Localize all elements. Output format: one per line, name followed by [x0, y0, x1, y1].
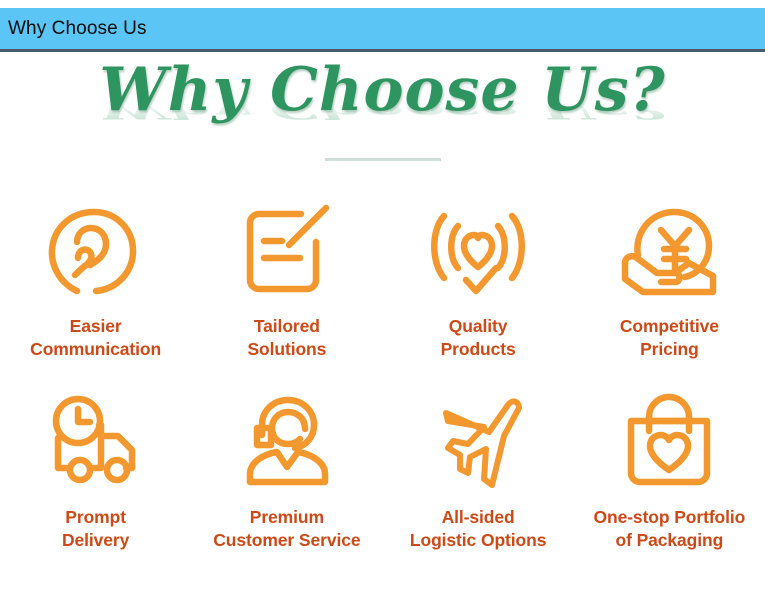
- feature-item-one-stop-portfolio-packaging[interactable]: One-stop Portfolio of Packaging: [574, 387, 765, 578]
- feature-label: Tailored Solutions: [247, 315, 326, 361]
- feature-label-line2: Pricing: [640, 339, 699, 359]
- feature-label-line1: Quality: [449, 316, 508, 336]
- headset-agent-icon: [235, 387, 339, 499]
- page-title: Why Choose Us?: [99, 60, 665, 120]
- feature-label: One-stop Portfolio of Packaging: [593, 506, 745, 552]
- feature-label-line2: Delivery: [62, 530, 129, 550]
- feature-item-competitive-pricing[interactable]: Competitive Pricing: [574, 196, 765, 387]
- feature-label: All-sided Logistic Options: [410, 506, 546, 552]
- feature-label: Premium Customer Service: [213, 506, 360, 552]
- hero-divider: [325, 158, 441, 161]
- feature-item-premium-customer-service[interactable]: Premium Customer Service: [191, 387, 382, 578]
- feature-label-line1: One-stop Portfolio: [593, 507, 745, 527]
- feature-label: Competitive Pricing: [620, 315, 719, 361]
- feature-item-prompt-delivery[interactable]: Prompt Delivery: [0, 387, 191, 578]
- ear-listening-icon: [44, 196, 148, 308]
- feature-label-line1: Prompt: [65, 507, 126, 527]
- feature-label-line1: Tailored: [254, 316, 320, 336]
- window-header-bar: Why Choose Us: [0, 8, 765, 52]
- feature-label-line1: Premium: [250, 507, 324, 527]
- hero-title-wrapper: Why Choose Us? Why Choose Us?: [83, 60, 683, 152]
- feature-item-all-sided-logistic-options[interactable]: All-sided Logistic Options: [383, 387, 574, 578]
- feature-row: Prompt Delivery Premium Customer Service: [0, 387, 765, 578]
- delivery-truck-clock-icon: [44, 387, 148, 499]
- feature-item-easier-communication[interactable]: Easier Communication: [0, 196, 191, 387]
- feature-label: Easier Communication: [30, 315, 161, 361]
- feature-label-line2: Communication: [30, 339, 161, 359]
- feature-item-quality-products[interactable]: Quality Products: [383, 196, 574, 387]
- feature-label-line2: Logistic Options: [410, 530, 546, 550]
- hero-section: Why Choose Us? Why Choose Us?: [0, 60, 765, 180]
- feature-label: Quality Products: [441, 315, 516, 361]
- feature-label-line2: Customer Service: [213, 530, 360, 550]
- feature-row: Easier Communication Tailored Solutions: [0, 196, 765, 387]
- feature-grid: Easier Communication Tailored Solutions: [0, 196, 765, 578]
- window-title: Why Choose Us: [0, 18, 147, 40]
- feature-label-line1: All-sided: [442, 507, 515, 527]
- heart-signal-check-icon: [426, 196, 530, 308]
- feature-label-line1: Competitive: [620, 316, 719, 336]
- shopping-bag-heart-icon: [617, 387, 721, 499]
- feature-label-line2: Products: [441, 339, 516, 359]
- document-pencil-icon: [235, 196, 339, 308]
- feature-label-line2: Solutions: [247, 339, 326, 359]
- feature-label: Prompt Delivery: [62, 506, 129, 552]
- hand-holding-yen-coin-icon: [617, 196, 721, 308]
- feature-label-line1: Easier: [70, 316, 122, 336]
- feature-item-tailored-solutions[interactable]: Tailored Solutions: [191, 196, 382, 387]
- airplane-icon: [426, 387, 530, 499]
- feature-label-line2: of Packaging: [616, 530, 724, 550]
